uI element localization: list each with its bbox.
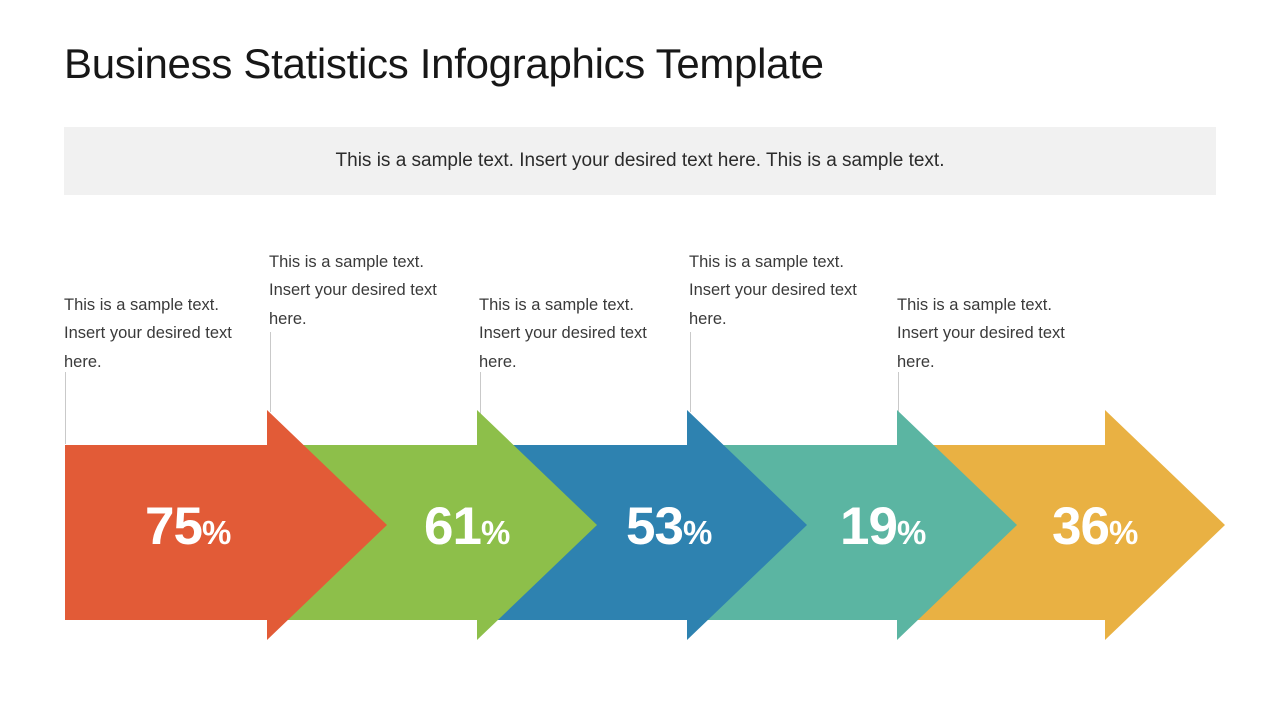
percentage-label-5: 36%: [1052, 500, 1138, 553]
percentage-value-5: 36: [1052, 497, 1109, 556]
percentage-value-1: 75: [145, 497, 202, 556]
percentage-label-2: 61%: [424, 500, 510, 553]
arrow-process-infographic: This is a sample text. Insert your desir…: [0, 0, 1280, 720]
percentage-label-1: 75%: [145, 500, 231, 553]
percentage-value-3: 53: [626, 497, 683, 556]
percentage-label-3: 53%: [626, 500, 712, 553]
percentage-sign-4: %: [897, 514, 926, 551]
percentage-label-4: 19%: [840, 500, 926, 553]
percentage-sign-3: %: [683, 514, 712, 551]
arrow-chain: [0, 0, 1280, 720]
percentage-sign-1: %: [202, 514, 231, 551]
percentage-sign-2: %: [481, 514, 510, 551]
percentage-value-4: 19: [840, 497, 897, 556]
percentage-value-2: 61: [424, 497, 481, 556]
percentage-sign-5: %: [1109, 514, 1138, 551]
